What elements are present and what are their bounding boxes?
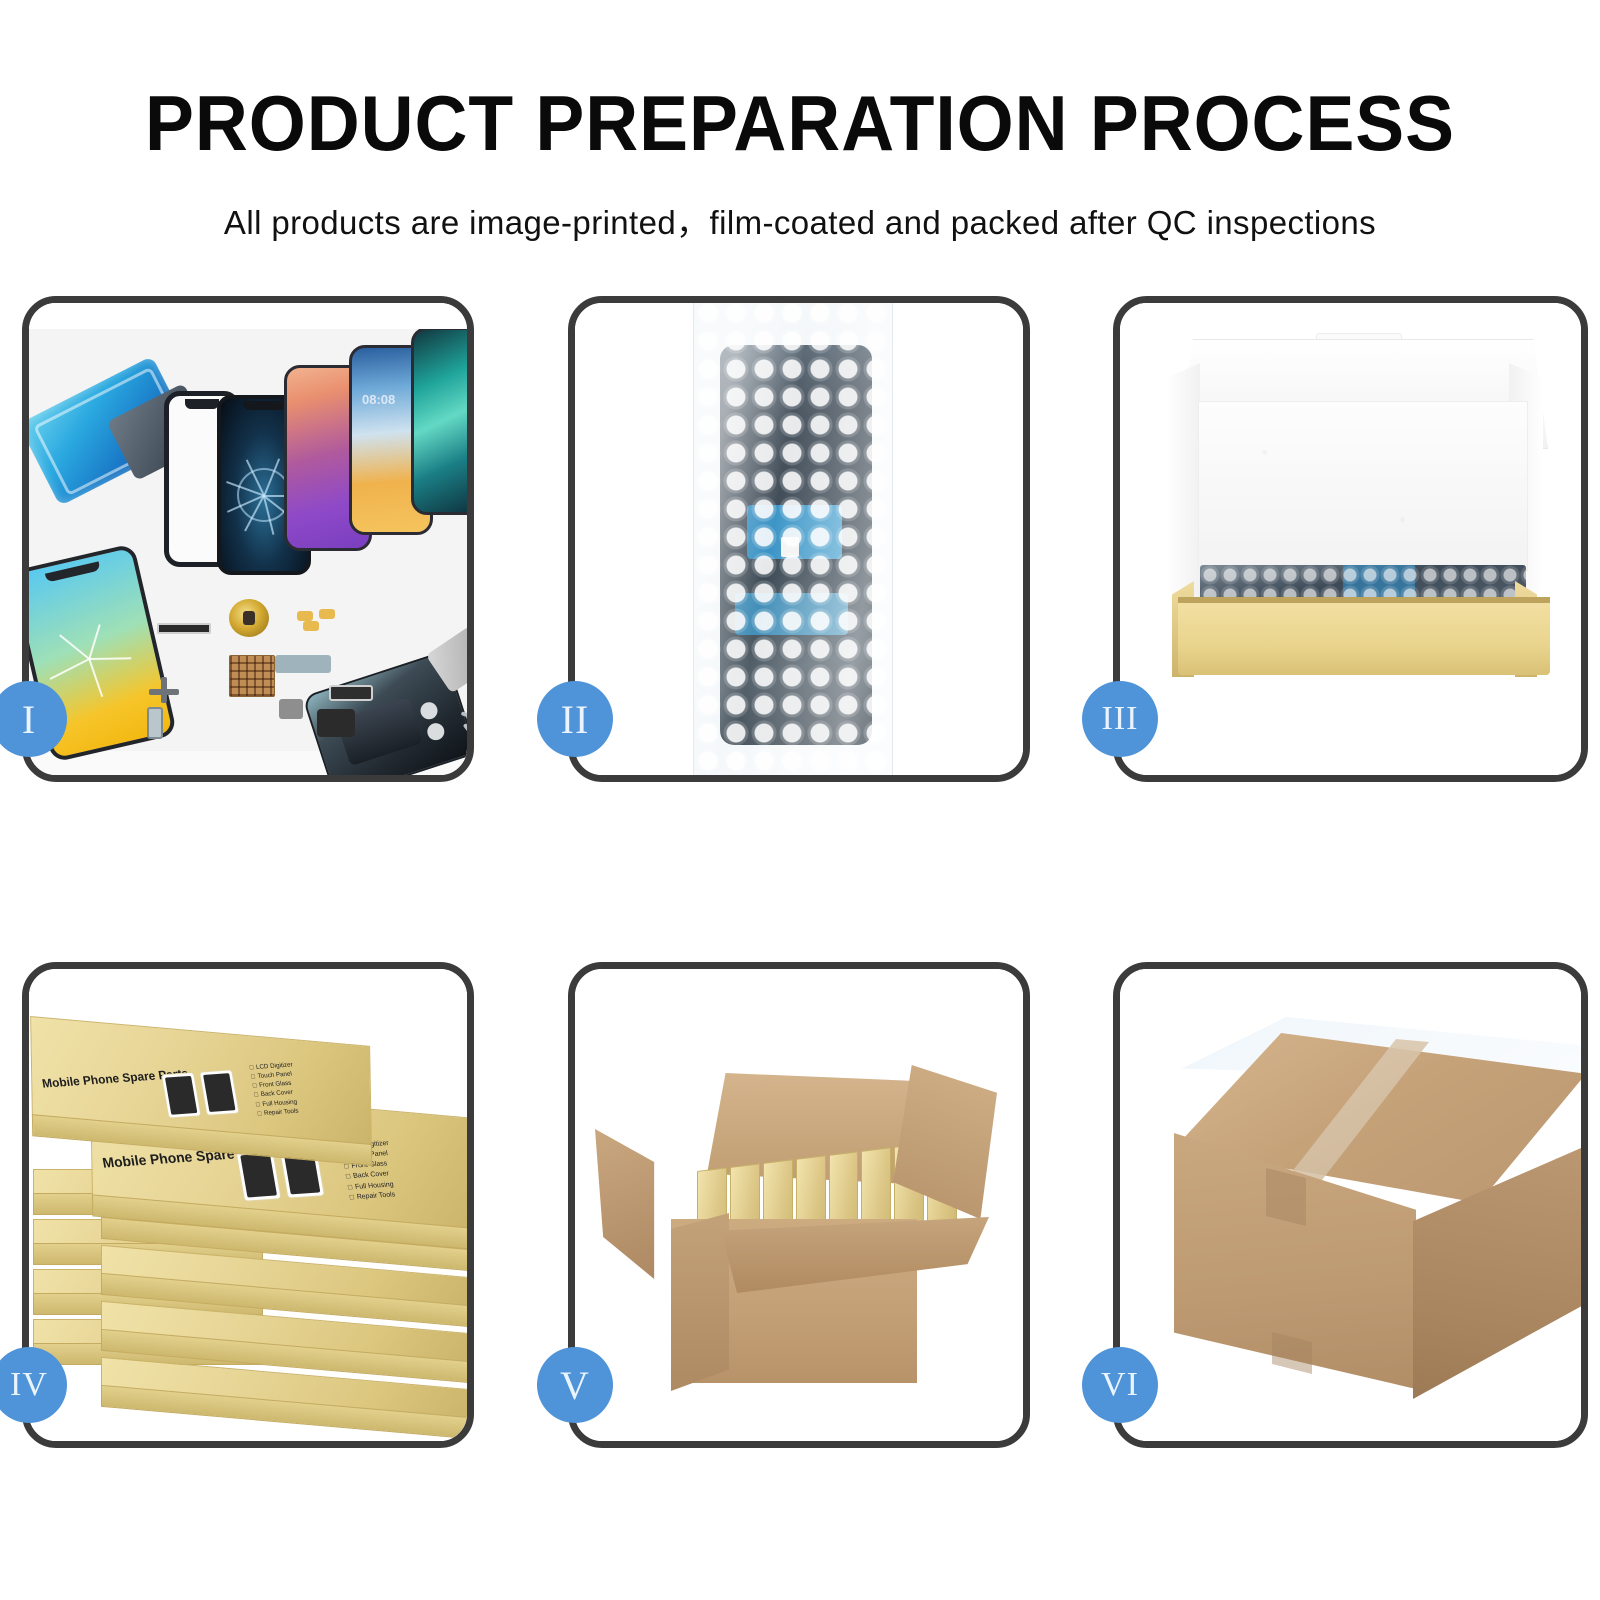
ic-chip-part xyxy=(229,655,275,697)
step-badge-2: II xyxy=(537,681,613,757)
retail-box-checklist: LCD Digitizer Touch Panel Front Glass Ba… xyxy=(249,1061,301,1119)
tape-patch-upper xyxy=(1266,1168,1306,1226)
step-image-3 xyxy=(1120,303,1581,775)
vibration-motor-part xyxy=(279,699,303,719)
box-window-phone xyxy=(161,1072,202,1118)
infographic-page: PRODUCT PREPARATION PROCESS All products… xyxy=(0,0,1600,1600)
step-image-4: Mobile Phone Spare Parts LCD Digitizer T… xyxy=(29,969,467,1441)
retail-box-stack-scene: Mobile Phone Spare Parts LCD Digitizer T… xyxy=(29,969,467,1441)
step-image-2 xyxy=(575,303,1023,775)
small-flex-part xyxy=(149,677,189,721)
step-image-1: 08:08 xyxy=(29,303,467,775)
speaker-module-part xyxy=(329,685,373,701)
step-panel-6[interactable]: VI xyxy=(1113,962,1588,1448)
step-image-6 xyxy=(1120,969,1581,1441)
bubble-wrap-scene xyxy=(575,303,1023,775)
step-badge-6: VI xyxy=(1082,1347,1158,1423)
loudspeaker-part xyxy=(317,709,355,737)
step-image-5 xyxy=(575,969,1023,1441)
foam-liner xyxy=(1198,401,1528,571)
wireless-charging-coil-part xyxy=(229,599,269,637)
retail-box-window-row xyxy=(161,1069,240,1118)
flex-cable-part xyxy=(297,609,345,631)
bubble-wrap-sleeve xyxy=(693,303,893,775)
open-carton-scene xyxy=(575,969,1023,1441)
step-badge-5: V xyxy=(537,1347,613,1423)
screws-part xyxy=(461,711,467,733)
box-wall-left xyxy=(1166,363,1200,613)
sealed-carton-scene xyxy=(1120,969,1581,1441)
camera-lens-icon xyxy=(418,700,439,721)
shatter-icon xyxy=(237,468,291,522)
step-panel-5[interactable]: V xyxy=(568,962,1030,1448)
phone-clock-watermark: 08:08 xyxy=(362,392,395,407)
step-badge-3: III xyxy=(1082,681,1158,757)
white-mailer-scene xyxy=(1120,303,1581,775)
step-panel-4[interactable]: Mobile Phone Spare Parts LCD Digitizer T… xyxy=(22,962,474,1448)
ribbon-cable-part xyxy=(275,655,331,673)
teal-display-part xyxy=(411,327,467,515)
step-panel-1[interactable]: 08:08 xyxy=(22,296,474,782)
steps-grid: 08:08 xyxy=(0,0,1600,1600)
plastic-sheen xyxy=(694,303,892,775)
spare-parts-scene: 08:08 xyxy=(29,303,467,775)
carton-left-face xyxy=(671,1213,729,1391)
step-panel-2[interactable]: II xyxy=(568,296,1030,782)
step-panel-3[interactable]: III xyxy=(1113,296,1588,782)
earpiece-speaker-part xyxy=(157,623,211,634)
mailer-front-face xyxy=(1178,603,1550,675)
retail-box-printed: Mobile Phone Spare Parts LCD Digitizer T… xyxy=(30,1016,372,1146)
